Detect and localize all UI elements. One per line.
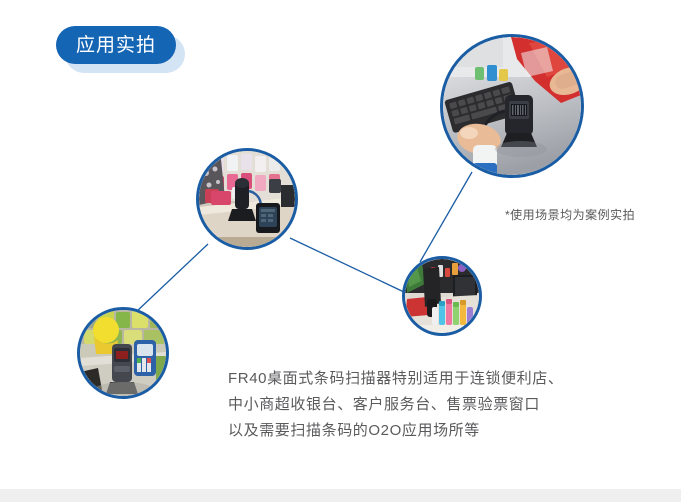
bottom-divider-strip — [0, 489, 681, 502]
description-line-3: 以及需要扫描条码的O2O应用场所等 — [228, 418, 628, 444]
section-badge: 应用实拍 — [56, 26, 186, 74]
photo-disclaimer-note: *使用场景均为案例实拍 — [505, 206, 635, 223]
photo-circle-stationery-counter — [402, 256, 482, 336]
connector-bottomleft-to-midleft — [136, 244, 208, 312]
photo-image-checkout-counter — [443, 37, 581, 175]
section-badge-label: 应用实拍 — [76, 36, 156, 55]
description-paragraph: FR40桌面式条码扫描器特别适用于连锁便利店、 中小商超收银台、客户服务台、售票… — [228, 366, 628, 444]
section-badge-pill: 应用实拍 — [56, 26, 176, 64]
connector-midleft-to-center — [290, 238, 404, 292]
description-line-1: FR40桌面式条码扫描器特别适用于连锁便利店、 — [228, 366, 628, 392]
photo-circle-phone-shop-counter — [196, 148, 298, 250]
description-line-2: 中小商超收银台、客户服务台、售票验票窗口 — [228, 392, 628, 418]
photo-circle-convenience-store-pos — [77, 307, 169, 399]
connector-topright-to-center — [420, 172, 472, 262]
application-photos-section: 应用实拍 — [0, 0, 681, 502]
photo-image-phone-shop-counter — [199, 151, 295, 247]
photo-image-stationery-counter — [405, 259, 479, 333]
photo-image-convenience-store-pos — [80, 310, 166, 396]
photo-circle-checkout-counter — [440, 34, 584, 178]
